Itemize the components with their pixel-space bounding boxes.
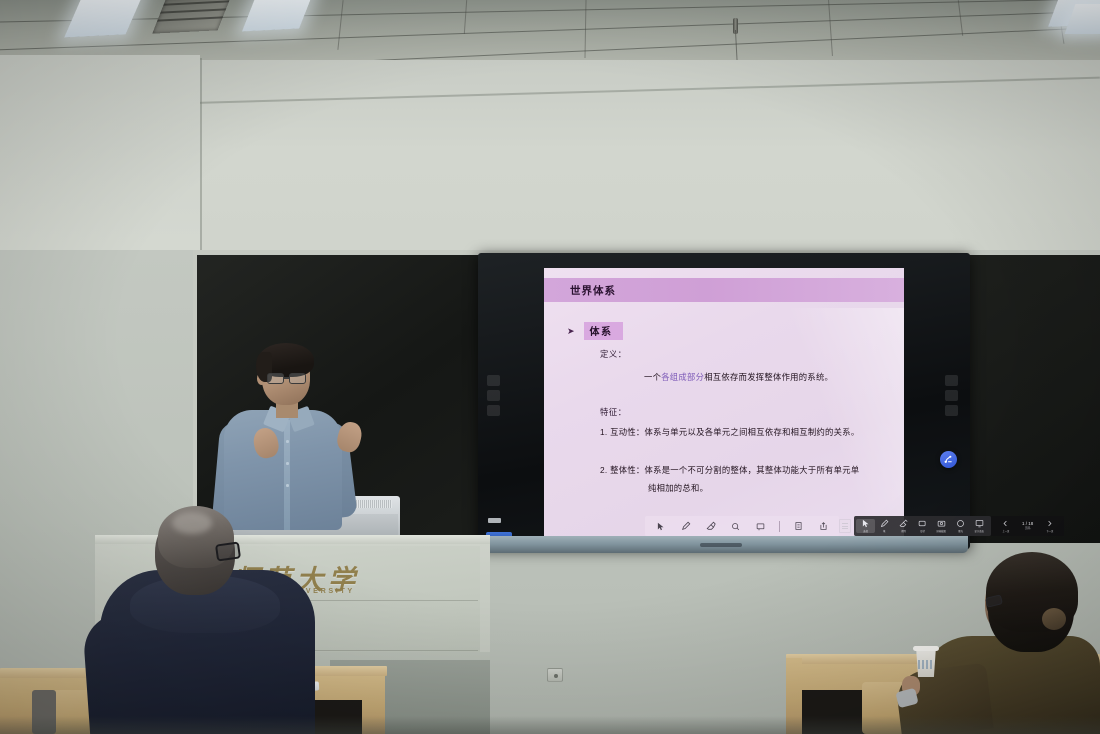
page-indicator-caption: 页码 [1022, 527, 1033, 531]
slide-title: 世界体系 [570, 283, 616, 298]
definition-label: 定义： [600, 348, 627, 360]
definition-text: 一个各组成部分相互依存而发挥整体作用的系统。 [644, 371, 894, 383]
shape-icon[interactable] [751, 522, 770, 531]
lectern-top-edge [95, 535, 490, 544]
floor-shadow [0, 716, 1100, 734]
definition-pre: 一个 [644, 372, 661, 382]
pen-icon[interactable]: 笔 [875, 519, 894, 533]
attendee-left-glasses [215, 541, 241, 561]
tool-label: 屏幕截图 [937, 529, 946, 533]
wall-outlet [547, 668, 563, 682]
air-vent [152, 0, 232, 34]
tool-label: 选择 [863, 529, 868, 533]
attendee-right-hair-tie [1042, 608, 1066, 630]
slide-bullet-label: 体系 [584, 322, 623, 340]
cursor-icon[interactable]: 选择 [856, 519, 875, 533]
ceiling-light [242, 0, 314, 31]
presenter-glasses-bridge [284, 377, 289, 379]
definition-post: 相互依存而发挥整体作用的系统。 [704, 372, 833, 382]
toolbar-divider [779, 521, 780, 532]
slide-title-band: 世界体系 [544, 278, 904, 302]
annotation-toolbar[interactable]: 选择 笔 擦除 形状 屏幕截图 聚光 [645, 516, 1064, 536]
desktop-icon[interactable]: 显示桌面 [970, 519, 989, 533]
pen-icon[interactable] [676, 521, 695, 531]
attendee-left-hair-highlight [172, 512, 212, 534]
definition-highlight: 各组成部分 [661, 372, 704, 382]
display-brand-mark [700, 543, 742, 547]
cursor-icon[interactable] [651, 522, 670, 531]
toolbar-dark-group[interactable]: 选择 笔 擦除 形状 屏幕截图 聚光 [854, 516, 991, 536]
tool-label: 笔 [883, 529, 885, 533]
lasso-icon[interactable] [726, 522, 745, 531]
export-icon[interactable] [814, 521, 833, 531]
page-indicator: 1 / 18 页码 [1022, 521, 1033, 531]
blackboard-right [963, 255, 1100, 543]
tool-label: 聚光 [958, 529, 963, 533]
chevron-right-icon[interactable]: 下一页 [1040, 519, 1059, 533]
tool-label: 擦除 [901, 529, 906, 533]
paper-cup-rim [913, 646, 939, 651]
ceiling-light [64, 0, 144, 38]
display-corner-mark [488, 518, 501, 523]
display-side-buttons-right[interactable] [945, 375, 958, 420]
prev-page-label: 上一页 [1002, 529, 1009, 533]
features-label: 特征： [600, 406, 627, 418]
feature-item-2: 2. 整体性：体系是一个不可分割的整体，其整体功能大于所有单元单 [600, 464, 900, 476]
list-icon[interactable] [789, 521, 808, 531]
arrow-bullet-icon: ➤ [567, 326, 575, 337]
slide-bullet-heading: ➤ 体系 [567, 322, 623, 340]
presentation-slide[interactable]: 世界体系 ➤ 体系 定义： 一个各组成部分相互依存而发挥整体作用的系统。 特征：… [544, 268, 904, 536]
presenter-glasses-right [289, 373, 306, 384]
lecture-hall-scene: 世界体系 ➤ 体系 定义： 一个各组成部分相互依存而发挥整体作用的系统。 特征：… [0, 0, 1100, 734]
chevron-left-icon[interactable]: 上一页 [996, 519, 1015, 533]
shape-icon[interactable]: 形状 [913, 519, 932, 533]
display-side-buttons-left[interactable] [487, 375, 500, 420]
presenter-shirt-placket [284, 420, 290, 530]
feature-item-1: 1. 互动性：体系与单元以及各单元之间相互依存和相互制约的关系。 [600, 426, 900, 438]
slide-thumbnail-toggle[interactable] [839, 519, 851, 533]
tool-label: 显示桌面 [975, 529, 984, 533]
slide-navigation[interactable]: 上一页 1 / 18 页码 下一页 [991, 516, 1064, 536]
feature-item-2-cont: 纯相加的总和。 [648, 482, 904, 494]
spotlight-icon[interactable]: 聚光 [951, 519, 970, 533]
assistant-icon[interactable] [940, 451, 957, 468]
next-page-label: 下一页 [1046, 529, 1053, 533]
presenter-glasses-left [267, 373, 284, 384]
eraser-icon[interactable] [701, 521, 720, 531]
toolbar-light-group[interactable] [645, 516, 839, 536]
eraser-icon[interactable]: 擦除 [894, 519, 913, 533]
tool-label: 形状 [920, 529, 925, 533]
screenshot-icon[interactable]: 屏幕截图 [932, 519, 951, 533]
paper-cup-pattern [918, 660, 934, 669]
